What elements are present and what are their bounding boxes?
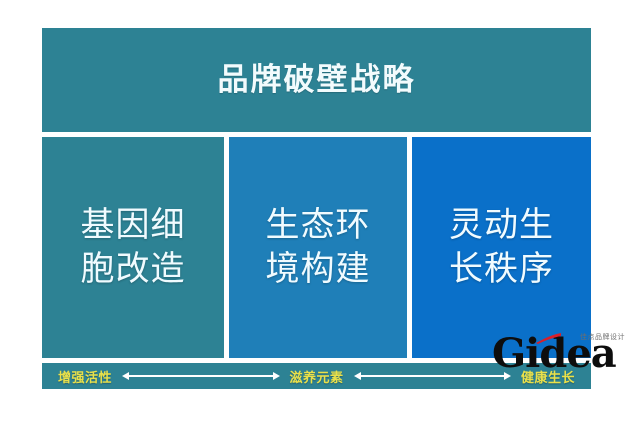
logo-subtitle: 佳点品牌设计 [580, 332, 625, 342]
strategy-column-3-line2: 长秩序 [449, 248, 554, 292]
double-arrow-icon-1 [122, 370, 279, 382]
arrow-head-right-icon-1 [273, 372, 280, 380]
header-band: 品牌破壁战略 [42, 28, 591, 132]
page-title: 品牌破壁战略 [218, 65, 416, 96]
strategy-column-1-line1: 基因细 [81, 204, 186, 248]
flow-label-1: 增强活性 [58, 367, 112, 386]
strategy-column-1-line2: 胞改造 [81, 248, 186, 292]
strategy-columns: 基因细 胞改造 生态环 境构建 灵动生 长秩序 [42, 137, 591, 358]
strategy-column-1[interactable]: 基因细 胞改造 [42, 137, 224, 358]
arrow-shaft-1 [128, 375, 273, 377]
strategy-column-2-line2: 境构建 [266, 248, 371, 292]
logo-swoosh-icon [536, 333, 562, 344]
strategy-column-2-line1: 生态环 [266, 204, 371, 248]
flow-label-2: 滋养元素 [290, 367, 344, 386]
double-arrow-icon-2 [354, 370, 511, 382]
strategy-column-2[interactable]: 生态环 境构建 [229, 137, 407, 358]
strategy-column-3[interactable]: 灵动生 长秩序 [412, 137, 591, 358]
brand-logo: Gidea 佳点品牌设计 [492, 330, 640, 382]
strategy-column-3-line1: 灵动生 [449, 204, 554, 248]
arrow-shaft-2 [360, 375, 505, 377]
slide-canvas: 品牌破壁战略 基因细 胞改造 生态环 境构建 灵动生 长秩序 增强活性 滋养元素 [0, 0, 640, 429]
